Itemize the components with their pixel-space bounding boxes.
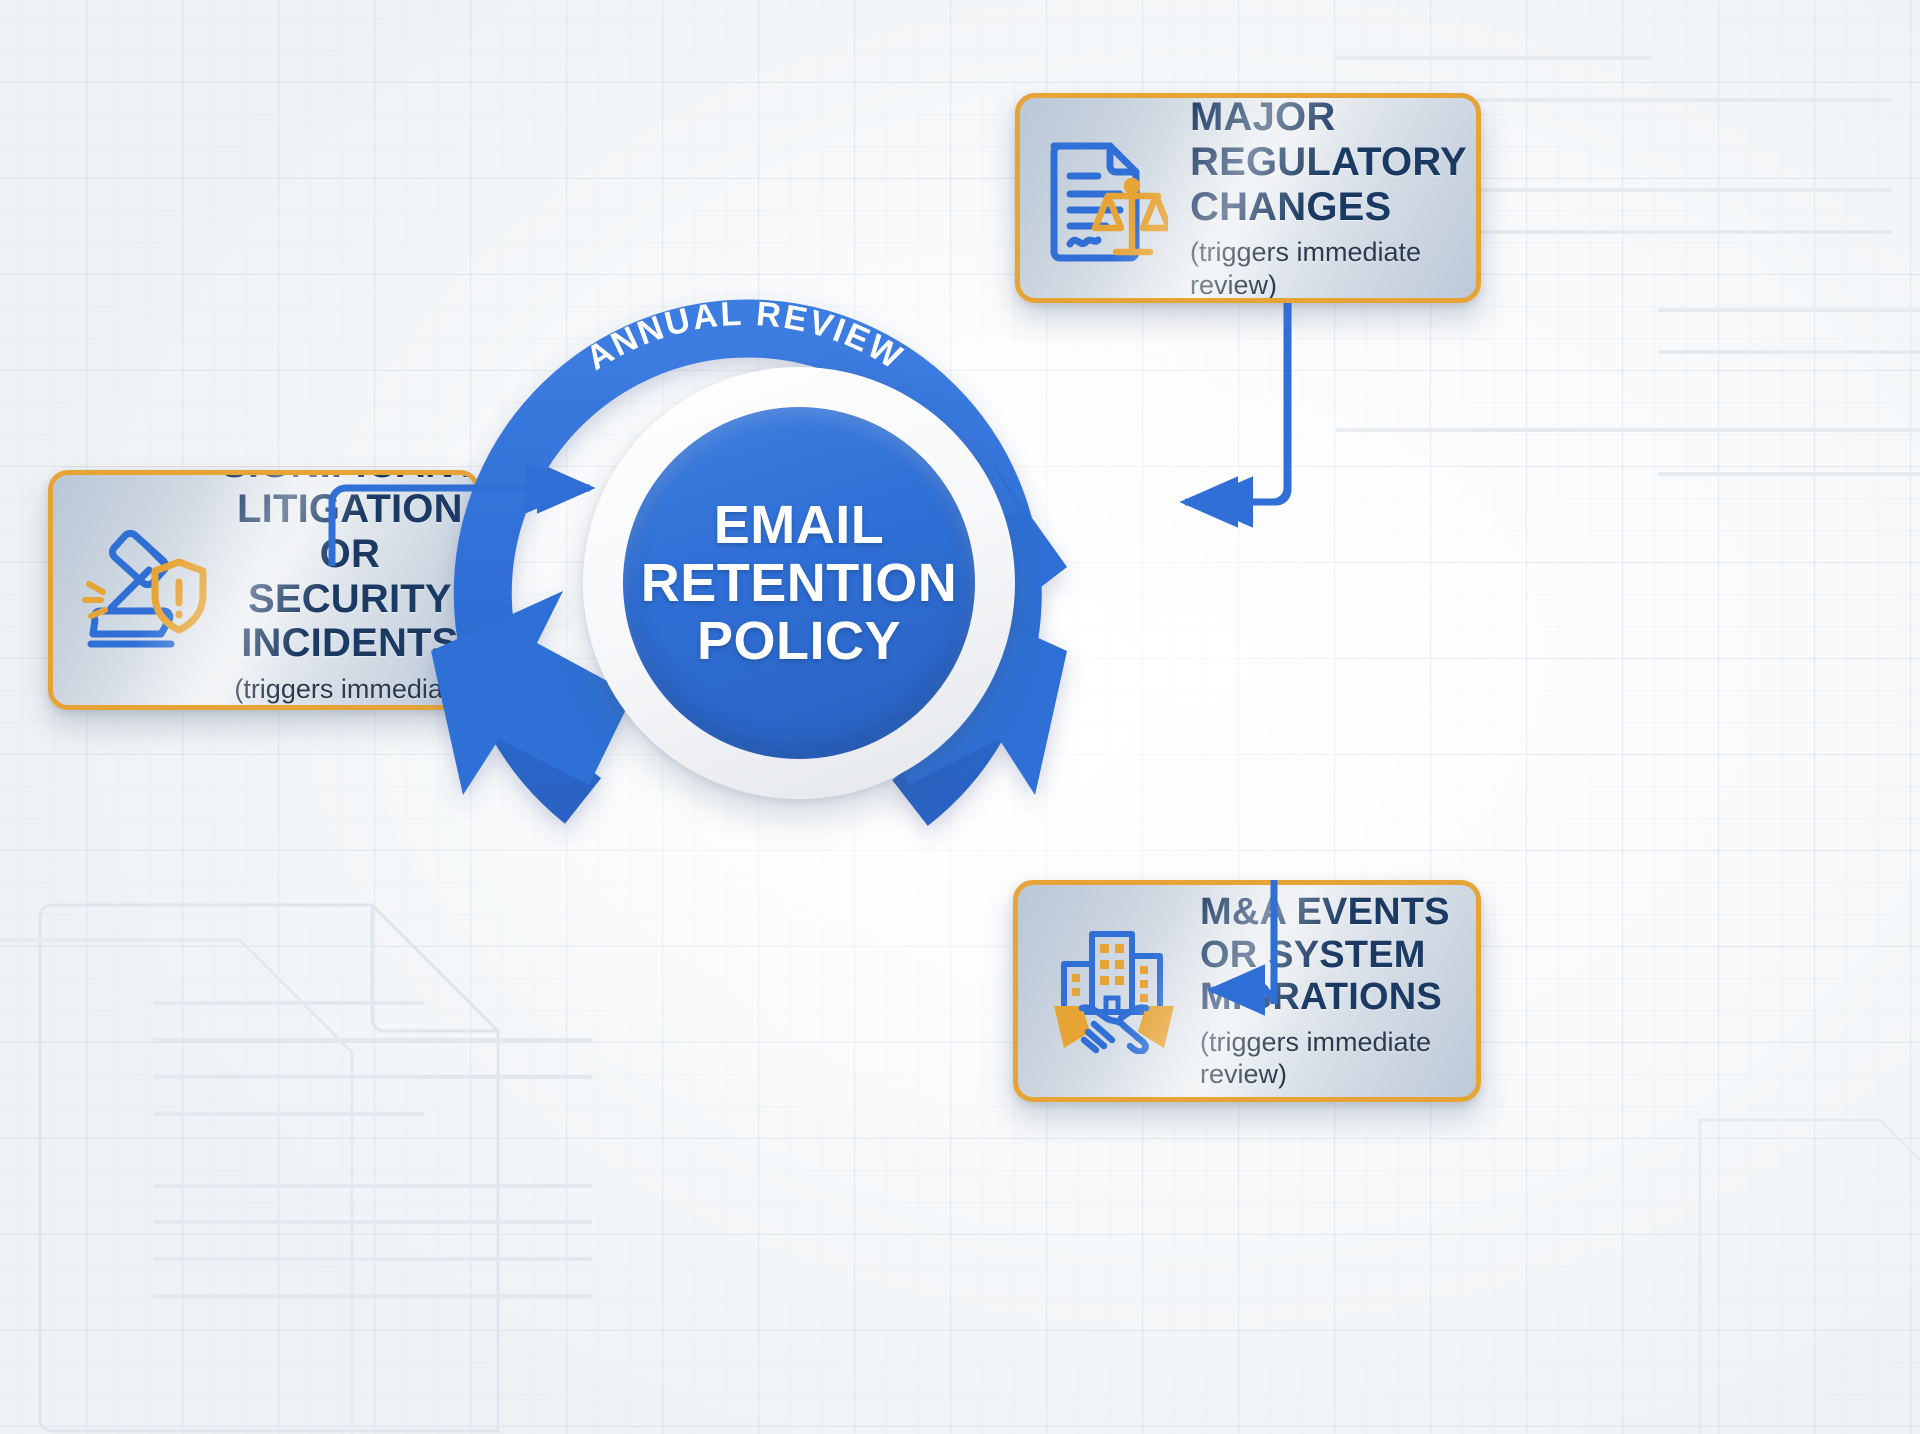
infographic-canvas: SIGNIFICANT LITIGATION OR SECURITY INCID… [0,0,1920,1434]
connector-ma-front [1212,880,1274,1004]
connector-lines-front [0,0,1920,1434]
connector-litigation-front [332,488,578,566]
connector-regulatory-front [1200,303,1287,502]
